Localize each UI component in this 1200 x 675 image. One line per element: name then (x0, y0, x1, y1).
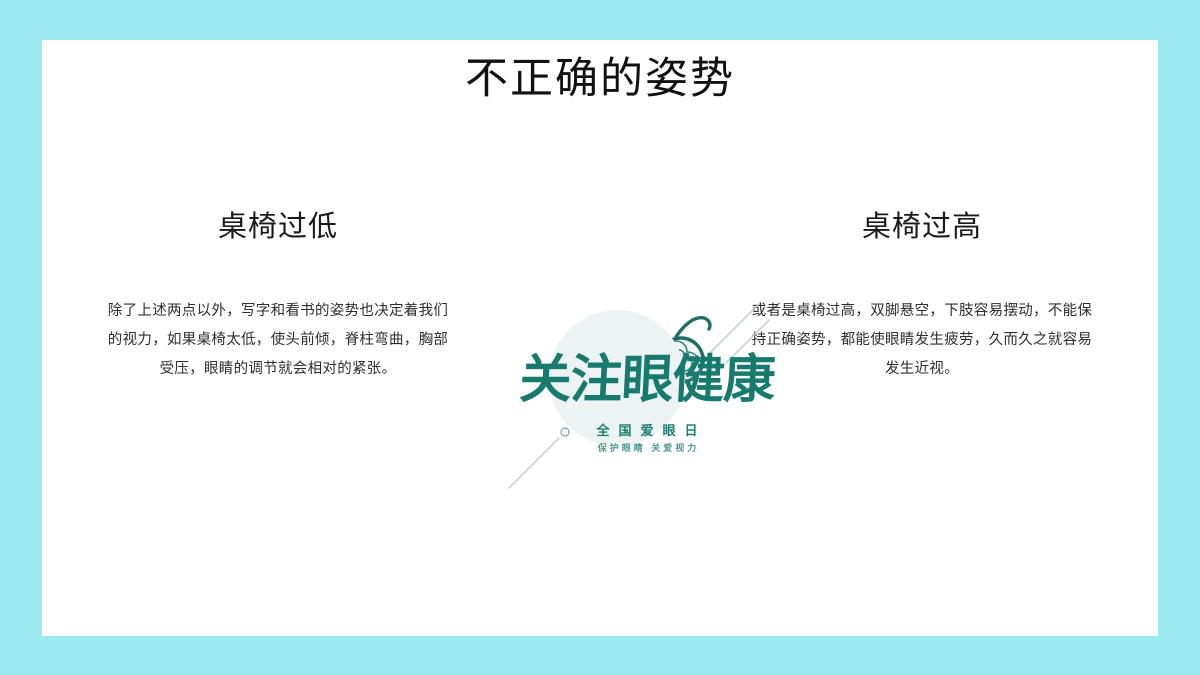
logo-text-group: 关注眼健康 全国爱眼日 保护眼睛 关爱视力 (497, 302, 797, 492)
logo-sub-text: 全国爱眼日 (497, 424, 797, 437)
slide-card: 不正确的姿势 桌椅过低 除了上述两点以外，写字和看书的姿势也决定着我们的视力，如… (42, 40, 1158, 636)
page-title: 不正确的姿势 (42, 56, 1158, 103)
column-heading-left: 桌椅过低 (88, 210, 468, 245)
eye-health-logo: 关注眼健康 全国爱眼日 保护眼睛 关爱视力 (497, 302, 797, 492)
logo-main-text: 关注眼健康 (496, 354, 799, 406)
logo-slogan-text: 保护眼睛 关爱视力 (497, 444, 797, 453)
column-heading-right: 桌椅过高 (732, 210, 1112, 245)
column-desk-too-low: 桌椅过低 除了上述两点以外，写字和看书的姿势也决定着我们的视力，如果桌椅太低，使… (88, 210, 468, 384)
column-body-left: 除了上述两点以外，写字和看书的姿势也决定着我们的视力，如果桌椅太低，使头前倾，脊… (88, 297, 468, 384)
slide-root: 不正确的姿势 桌椅过低 除了上述两点以外，写字和看书的姿势也决定着我们的视力，如… (0, 0, 1200, 675)
